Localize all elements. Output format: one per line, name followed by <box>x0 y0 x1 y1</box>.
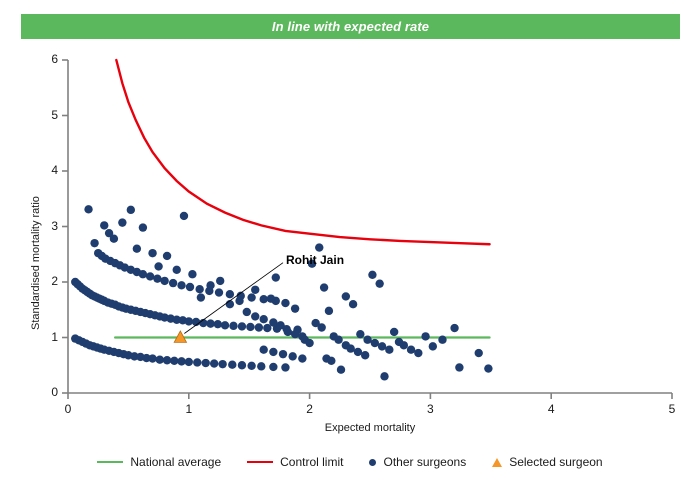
legend-label: National average <box>130 455 221 469</box>
scatter-point[interactable] <box>186 283 194 291</box>
scatter-point[interactable] <box>169 279 177 287</box>
scatter-point[interactable] <box>342 292 350 300</box>
scatter-point[interactable] <box>407 346 415 354</box>
scatter-point[interactable] <box>206 281 214 289</box>
scatter-point[interactable] <box>133 245 141 253</box>
scatter-point[interactable] <box>317 323 325 331</box>
scatter-point[interactable] <box>228 360 236 368</box>
funnel-plot-page: In line with expected rate Standardised … <box>0 0 700 500</box>
scatter-point[interactable] <box>281 299 289 307</box>
other-surgeons-points <box>71 205 493 380</box>
scatter-point[interactable] <box>450 324 458 332</box>
scatter-point[interactable] <box>90 239 98 247</box>
legend-line-swatch <box>97 461 123 463</box>
scatter-point[interactable] <box>385 346 393 354</box>
scatter-point[interactable] <box>185 317 193 325</box>
scatter-point[interactable] <box>414 349 422 357</box>
x-tick-label: 4 <box>539 402 563 416</box>
legend-triangle-swatch <box>492 458 502 467</box>
scatter-point[interactable] <box>438 336 446 344</box>
scatter-point[interactable] <box>361 351 369 359</box>
scatter-point[interactable] <box>216 277 224 285</box>
scatter-point[interactable] <box>375 279 383 287</box>
scatter-point[interactable] <box>260 295 268 303</box>
legend-item[interactable]: Control limit <box>247 455 343 469</box>
scatter-point[interactable] <box>100 221 108 229</box>
scatter-point[interactable] <box>210 359 218 367</box>
scatter-point[interactable] <box>380 372 388 380</box>
scatter-point[interactable] <box>272 273 280 281</box>
scatter-point[interactable] <box>180 212 188 220</box>
scatter-point[interactable] <box>247 293 255 301</box>
scatter-point[interactable] <box>279 350 287 358</box>
scatter-point[interactable] <box>170 357 178 365</box>
y-tick-label: 1 <box>36 330 58 344</box>
scatter-point[interactable] <box>238 361 246 369</box>
scatter-point[interactable] <box>251 286 259 294</box>
scatter-point[interactable] <box>226 290 234 298</box>
y-axis-title: Standardised mortality ratio <box>30 196 42 330</box>
scatter-point[interactable] <box>429 342 437 350</box>
scatter-point[interactable] <box>148 249 156 257</box>
scatter-point[interactable] <box>288 352 296 360</box>
legend-label: Control limit <box>280 455 343 469</box>
legend-item[interactable]: Selected surgeon <box>492 455 602 469</box>
y-tick-label: 6 <box>36 52 58 66</box>
scatter-point[interactable] <box>378 342 386 350</box>
y-tick-label: 5 <box>36 108 58 122</box>
scatter-point[interactable] <box>215 288 223 296</box>
scatter-point[interactable] <box>139 223 147 231</box>
scatter-point[interactable] <box>202 359 210 367</box>
scatter-point[interactable] <box>247 362 255 370</box>
scatter-point[interactable] <box>197 293 205 301</box>
scatter-point[interactable] <box>371 339 379 347</box>
scatter-point[interactable] <box>281 363 289 371</box>
scatter-point[interactable] <box>346 344 354 352</box>
scatter-point[interactable] <box>356 330 364 338</box>
scatter-point[interactable] <box>269 318 277 326</box>
scatter-point[interactable] <box>260 346 268 354</box>
scatter-point[interactable] <box>153 274 161 282</box>
scatter-point[interactable] <box>163 356 171 364</box>
scatter-point[interactable] <box>238 322 246 330</box>
y-tick-label: 4 <box>36 163 58 177</box>
scatter-point[interactable] <box>390 328 398 336</box>
scatter-point[interactable] <box>260 315 268 323</box>
legend-item[interactable]: National average <box>97 455 221 469</box>
scatter-point[interactable] <box>160 277 168 285</box>
scatter-point[interactable] <box>185 358 193 366</box>
scatter-point[interactable] <box>193 358 201 366</box>
scatter-point[interactable] <box>110 235 118 243</box>
scatter-point[interactable] <box>188 270 196 278</box>
scatter-point[interactable] <box>177 357 185 365</box>
scatter-point[interactable] <box>400 341 408 349</box>
scatter-point[interactable] <box>269 363 277 371</box>
legend-line-swatch <box>247 461 273 463</box>
scatter-point[interactable] <box>255 323 263 331</box>
scatter-point[interactable] <box>163 252 171 260</box>
scatter-point[interactable] <box>218 360 226 368</box>
scatter-point[interactable] <box>195 285 203 293</box>
y-tick-label: 0 <box>36 385 58 399</box>
control-limit-line <box>116 60 489 244</box>
scatter-point[interactable] <box>334 336 342 344</box>
x-tick-label: 5 <box>660 402 684 416</box>
scatter-point[interactable] <box>284 328 292 336</box>
scatter-point[interactable] <box>221 321 229 329</box>
scatter-point[interactable] <box>291 330 299 338</box>
scatter-point[interactable] <box>269 348 277 356</box>
scatter-point[interactable] <box>235 297 243 305</box>
scatter-point[interactable] <box>327 357 335 365</box>
scatter-point[interactable] <box>156 356 164 364</box>
scatter-point[interactable] <box>368 271 376 279</box>
scatter-point[interactable] <box>267 294 275 302</box>
y-tick-label: 3 <box>36 219 58 233</box>
y-tick-label: 2 <box>36 274 58 288</box>
selected-surgeon-label: Rohit Jain <box>286 253 344 267</box>
scatter-point[interactable] <box>475 349 483 357</box>
scatter-point[interactable] <box>246 323 254 331</box>
scatter-point[interactable] <box>276 321 284 329</box>
scatter-point[interactable] <box>337 365 345 373</box>
scatter-point[interactable] <box>421 332 429 340</box>
scatter-point[interactable] <box>139 270 147 278</box>
scatter-point[interactable] <box>325 307 333 315</box>
scatter-point[interactable] <box>154 262 162 270</box>
legend-label: Other surgeons <box>383 455 466 469</box>
scatter-point[interactable] <box>291 304 299 312</box>
scatter-point[interactable] <box>251 312 259 320</box>
legend-item[interactable]: Other surgeons <box>369 455 466 469</box>
legend-label: Selected surgeon <box>509 455 602 469</box>
chart-legend: National averageControl limitOther surge… <box>0 455 700 469</box>
scatter-point[interactable] <box>206 319 214 327</box>
scatter-point[interactable] <box>363 336 371 344</box>
legend-dot-swatch <box>369 459 376 466</box>
x-tick-label: 2 <box>298 402 322 416</box>
x-tick-label: 1 <box>177 402 201 416</box>
scatter-point[interactable] <box>214 320 222 328</box>
scatter-point[interactable] <box>484 364 492 372</box>
scatter-point[interactable] <box>127 206 135 214</box>
scatter-point[interactable] <box>173 266 181 274</box>
x-tick-label: 3 <box>418 402 442 416</box>
scatter-point[interactable] <box>354 348 362 356</box>
scatter-point[interactable] <box>305 339 313 347</box>
scatter-point[interactable] <box>320 283 328 291</box>
scatter-point[interactable] <box>455 363 463 371</box>
scatter-point[interactable] <box>118 218 126 226</box>
x-tick-label: 0 <box>56 402 80 416</box>
x-axis-title: Expected mortality <box>0 422 700 434</box>
scatter-point[interactable] <box>229 322 237 330</box>
scatter-point[interactable] <box>315 243 323 251</box>
scatter-point[interactable] <box>148 354 156 362</box>
scatter-point[interactable] <box>257 362 265 370</box>
scatter-point[interactable] <box>298 354 306 362</box>
scatter-point[interactable] <box>177 281 185 289</box>
scatter-point[interactable] <box>243 308 251 316</box>
scatter-point[interactable] <box>349 300 357 308</box>
scatter-point[interactable] <box>84 205 92 213</box>
scatter-point[interactable] <box>146 272 154 280</box>
